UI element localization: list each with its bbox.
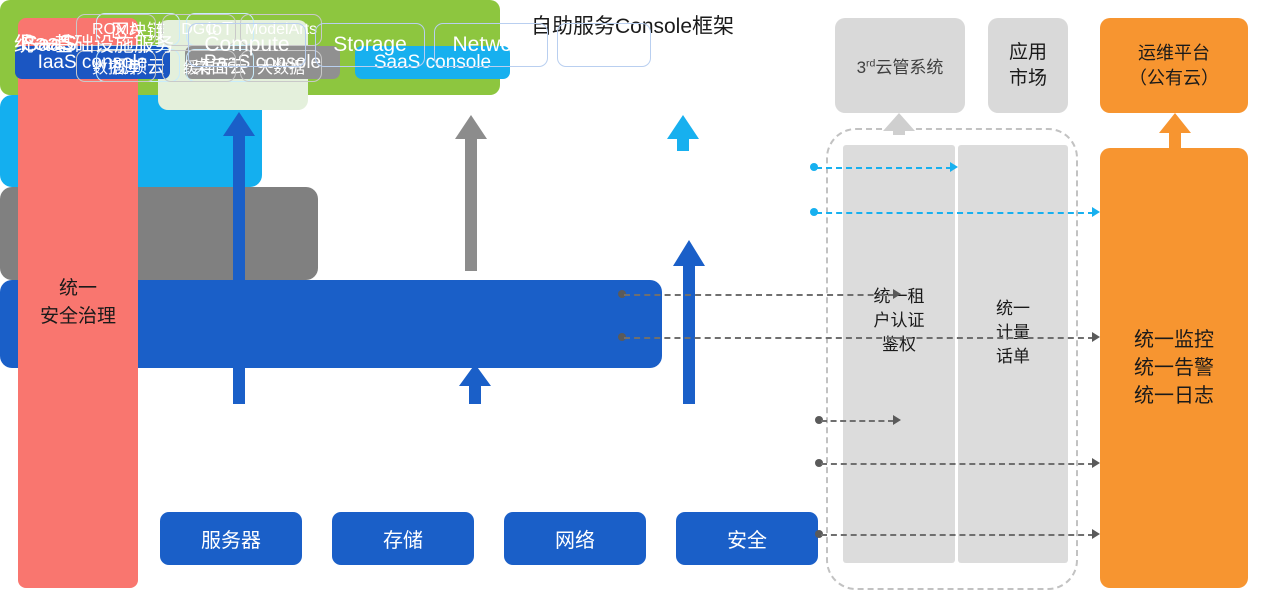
- arrowhead-iaas-to-ops: [1092, 458, 1100, 468]
- ops-platform-label: 运维平台 （公有云）: [1129, 41, 1219, 91]
- iaas-service-compute-label: Compute: [204, 33, 289, 57]
- iaas-service-network[interactable]: Network: [434, 23, 548, 67]
- architecture-diagram: 统一 安全治理 API网关 自助服务Console框架 IaaS console…: [0, 0, 1265, 605]
- unified-ops-panel: 统一监控 统一告警 统一日志: [1100, 148, 1248, 588]
- iaas-service-storage[interactable]: Storage: [315, 23, 425, 67]
- connector-infra-to-ops: [821, 534, 1094, 536]
- iaas-service-network-label: Network: [452, 33, 529, 57]
- arrowhead-iaas-to-auth: [893, 415, 901, 425]
- connector-iaas-to-auth: [821, 420, 894, 422]
- unified-ops-label: 统一监控 统一告警 统一日志: [1134, 326, 1214, 410]
- arrowhead-saas-to-ops: [1092, 207, 1100, 217]
- connector-saas-to-auth: [816, 167, 952, 169]
- infra-box-server-label: 服务器: [201, 524, 261, 553]
- infra-box-network-label: 网络: [555, 524, 595, 553]
- arrow-iaas-to-api-gateway: [222, 112, 256, 404]
- app-market-label: 应用 市场: [1009, 40, 1047, 92]
- security-governance-panel: 统一 安全治理: [18, 18, 138, 588]
- third-cloud-suffix: 云管系统: [875, 58, 943, 77]
- arrow-iaas-to-paas: [458, 364, 492, 404]
- third-party-cloud-mgmt-label: 3rd云管系统: [857, 53, 944, 78]
- arrowhead-saas-to-auth: [950, 162, 958, 172]
- third-party-cloud-mgmt-box: 3rd云管系统: [835, 18, 965, 113]
- arrow-paas-to-console: [454, 115, 488, 271]
- connector-paas-to-auth: [624, 294, 894, 296]
- infra-box-security[interactable]: 安全: [676, 512, 818, 565]
- security-governance-label: 统一 安全治理: [40, 275, 116, 331]
- app-market-box: 应用 市场: [988, 18, 1068, 113]
- connector-saas-to-ops: [816, 212, 1094, 214]
- shared-service-billing-label: 统一 计量 话单: [958, 297, 1068, 369]
- paas-service-database-label: 数据库: [92, 54, 140, 78]
- infra-box-storage[interactable]: 存储: [332, 512, 474, 565]
- infra-box-server[interactable]: 服务器: [160, 512, 302, 565]
- connector-iaas-to-ops: [821, 463, 1094, 465]
- iaas-layer-label: 统一基础设施服务: [14, 28, 189, 57]
- third-cloud-prefix: 3: [857, 58, 866, 77]
- iaas-service-cce[interactable]: CCE: [557, 23, 651, 67]
- iaas-service-cce-label: CCE: [582, 33, 626, 57]
- iaas-service-compute[interactable]: Compute: [188, 23, 306, 67]
- infra-box-network[interactable]: 网络: [504, 512, 646, 565]
- arrow-iaas-to-saas: [672, 240, 706, 404]
- iaas-service-storage-label: Storage: [333, 33, 407, 57]
- arrowhead-infra-to-ops: [1092, 529, 1100, 539]
- arrowhead-paas-to-ops: [1092, 332, 1100, 342]
- connector-paas-to-ops: [624, 337, 1094, 339]
- infra-box-storage-label: 存储: [383, 524, 423, 553]
- arrow-shared-to-third-cloud: [882, 113, 916, 135]
- ops-platform-box: 运维平台 （公有云）: [1100, 18, 1248, 113]
- arrowhead-paas-to-auth: [893, 289, 901, 299]
- arrow-saas-to-console: [666, 115, 700, 151]
- arrow-shared-to-ops-platform: [1158, 113, 1192, 149]
- infra-box-security-label: 安全: [727, 524, 767, 553]
